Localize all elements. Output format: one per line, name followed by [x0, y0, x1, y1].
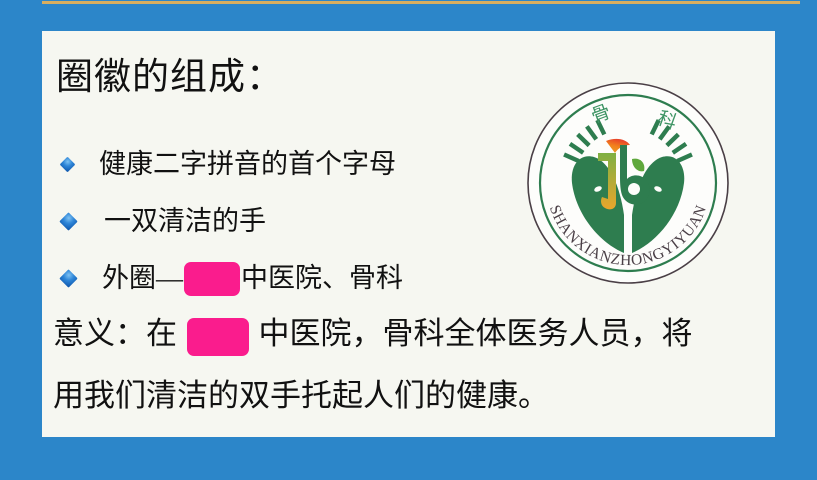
list-item-label: 外圈— 中医院、骨科	[102, 262, 403, 296]
meaning-line-1-after: 中医院，骨科全体医务人员，将	[259, 316, 693, 351]
meaning-line-1-before: 意义：在	[53, 316, 177, 351]
content-panel: 圈徽的组成： 健康二字拼音的首个字母 一双清洁的手 外圈— 中医院、骨科	[42, 31, 775, 437]
meaning-line-1: 意义：在 中医院，骨科全体医务人员，将	[53, 303, 773, 365]
diamond-bullet-icon	[60, 156, 76, 172]
list-item-label-before: 外圈—	[102, 265, 183, 292]
slide-root: 圈徽的组成： 健康二字拼音的首个字母 一双清洁的手 外圈— 中医院、骨科	[0, 0, 817, 480]
list-item-label-after: 中医院、骨科	[241, 265, 403, 292]
diamond-bullet-icon	[59, 269, 77, 287]
diamond-bullet-icon	[59, 212, 77, 230]
hospital-orthopedics-emblem: 骨 科 SHANXIANZHONGYIYUAN	[520, 75, 736, 291]
meaning-line-2: 用我们清洁的双手托起人们的健康。	[53, 365, 773, 427]
list-item-label: 健康二字拼音的首个字母	[99, 151, 396, 178]
meaning-paragraph: 意义：在 中医院，骨科全体医务人员，将 用我们清洁的双手托起人们的健康。	[53, 303, 773, 427]
top-accent-rule	[42, 1, 800, 4]
redaction-block	[184, 262, 240, 296]
page-title: 圈徽的组成：	[56, 59, 284, 96]
redaction-block	[187, 318, 249, 356]
list-item-label: 一双清洁的手	[104, 208, 266, 235]
